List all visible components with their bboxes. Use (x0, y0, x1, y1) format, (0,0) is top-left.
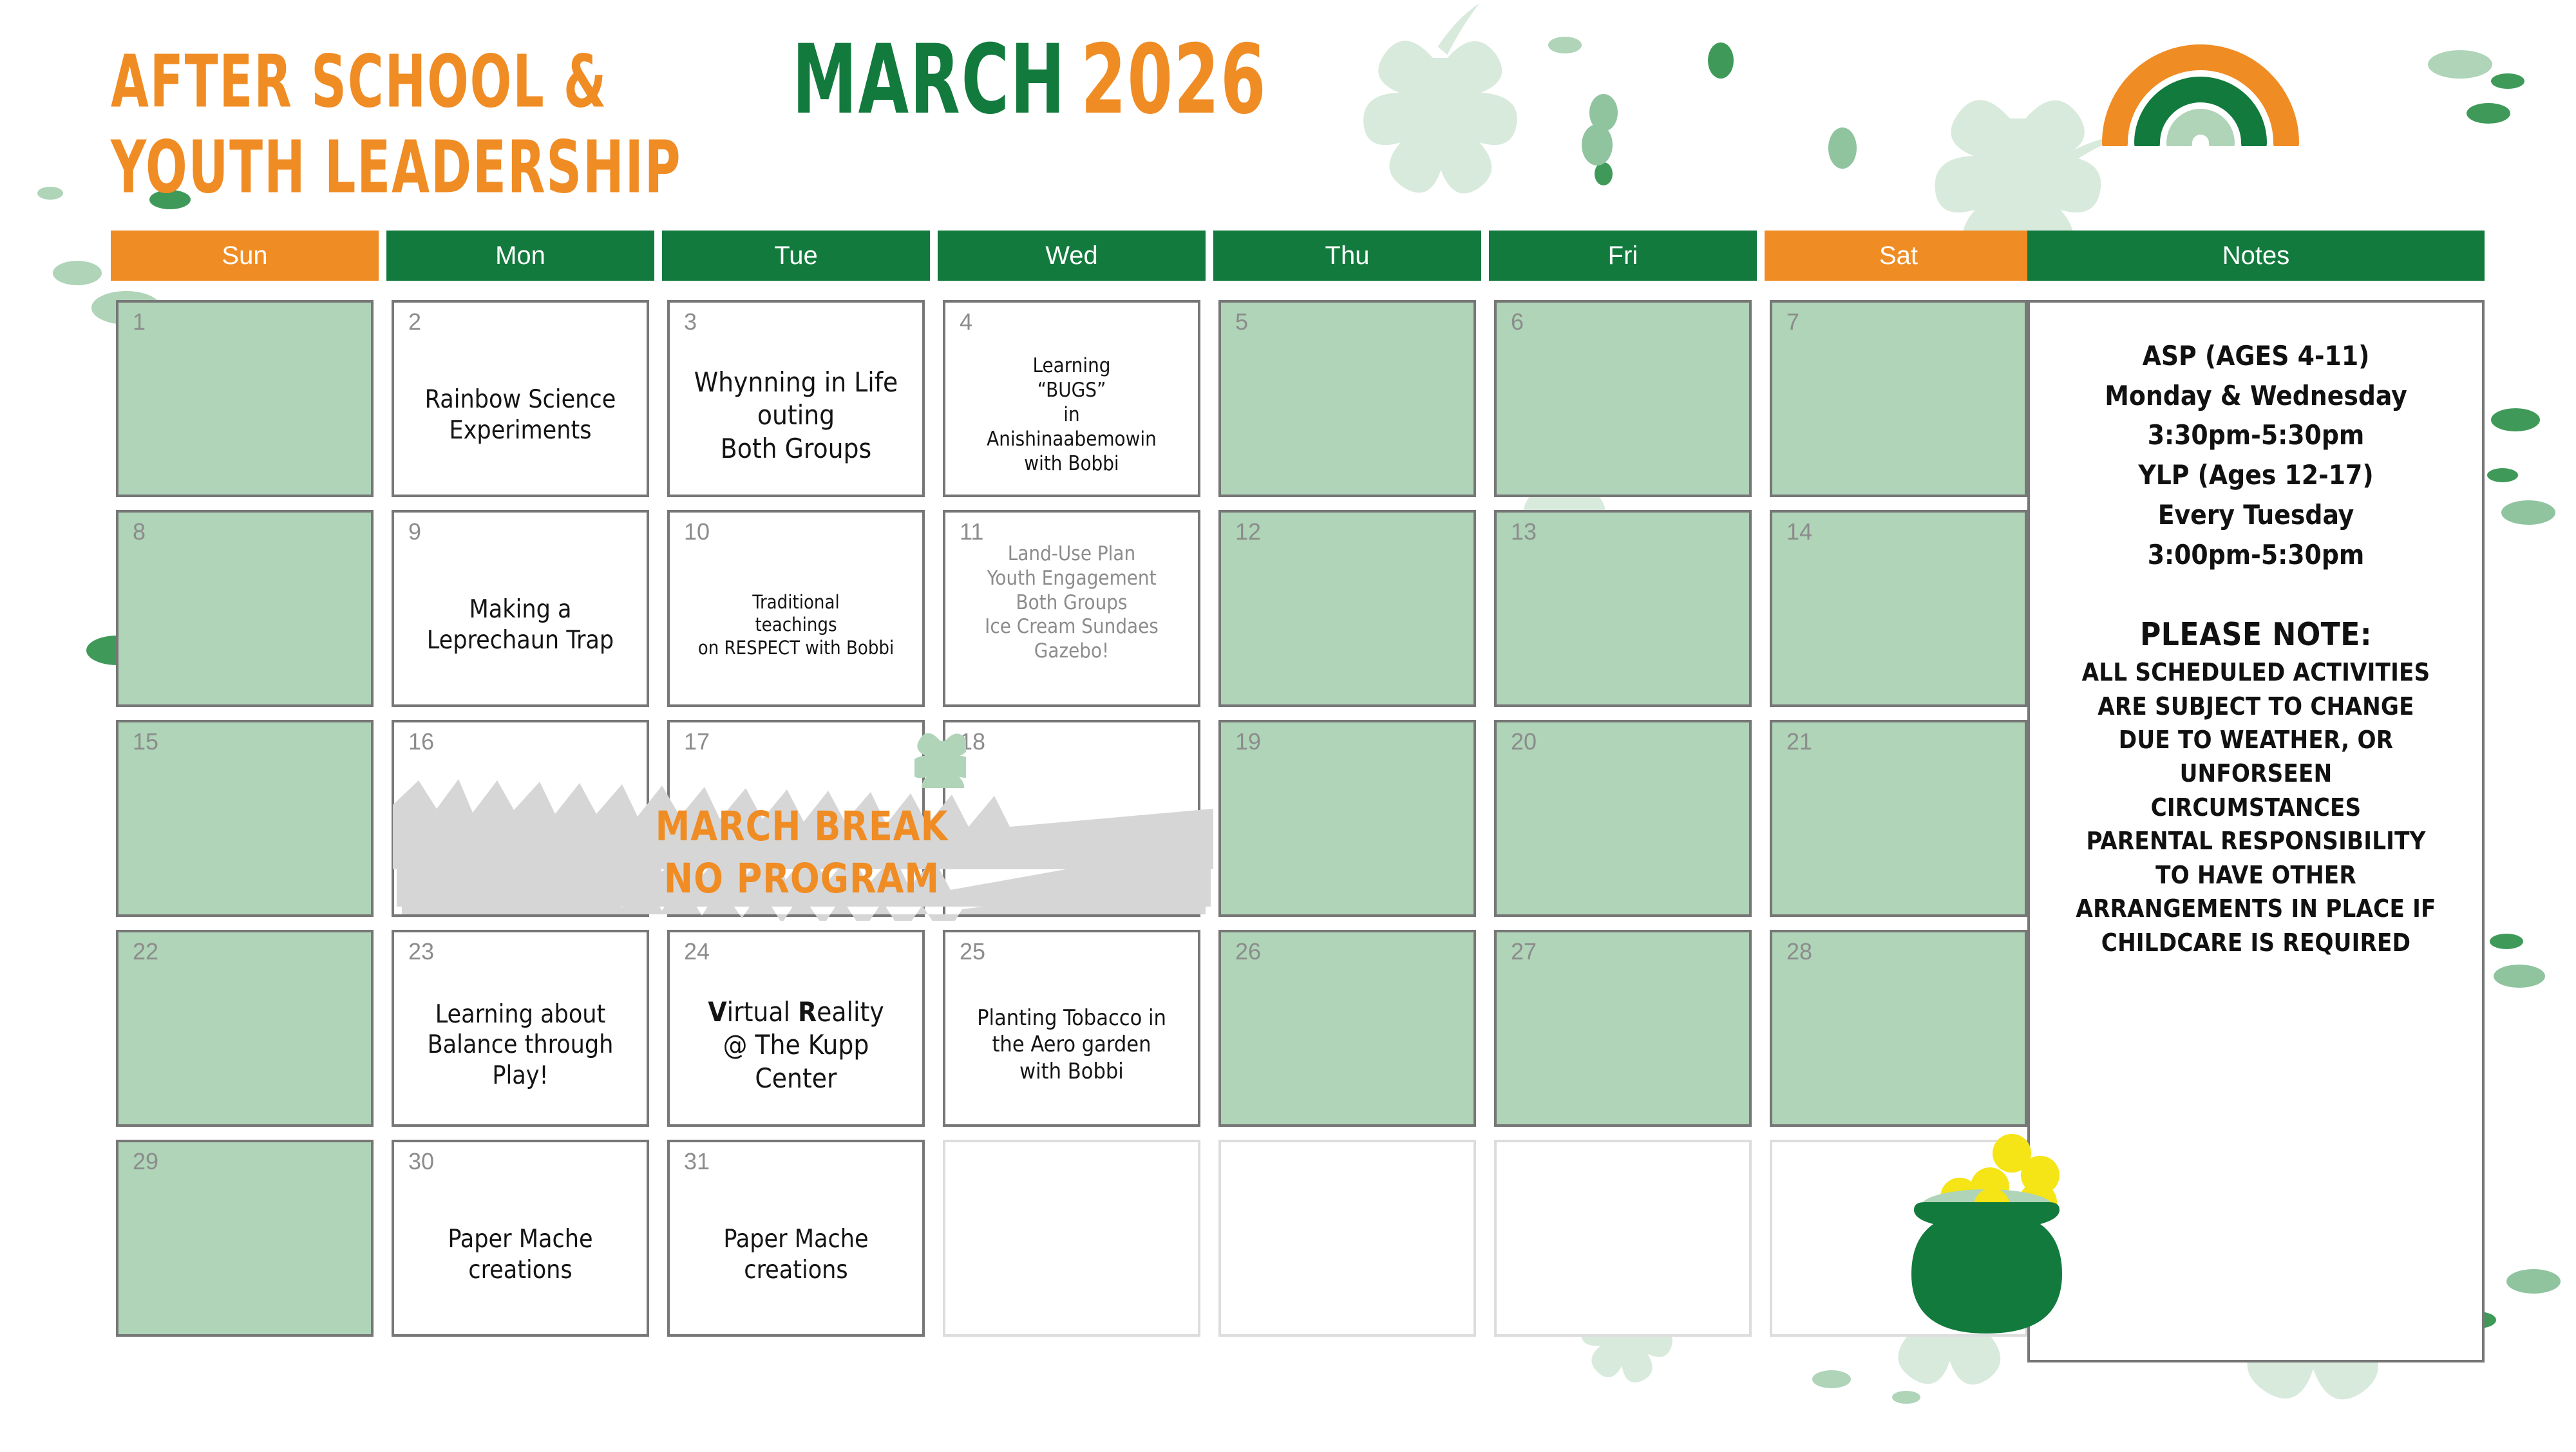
day-cell-empty-3 (1494, 1140, 1752, 1337)
day-cell-empty-1 (943, 1140, 1200, 1337)
day-cell-20[interactable]: 20 (1494, 720, 1752, 917)
event-text: Paper Mache creations (676, 1182, 916, 1328)
clover-icon (914, 726, 966, 788)
day-number: 4 (960, 310, 972, 334)
day-number: 16 (408, 730, 434, 753)
weekday-header-mon: Mon (386, 231, 654, 281)
event-line-2: @ The Kupp (723, 1028, 869, 1061)
day-cell-4[interactable]: 4 Learning “BUGS” in Anishinaabemowin wi… (943, 300, 1200, 497)
weekday-header-tue: Tue (662, 231, 930, 281)
day-cell-5[interactable]: 5 (1218, 300, 1476, 497)
day-number: 2 (408, 310, 421, 334)
event-text: Planting Tobacco in the Aero garden with… (948, 972, 1195, 1118)
day-cell-24[interactable]: 24 Virtual Reality @ The Kupp Center (667, 930, 925, 1127)
vr-initial-r: R (798, 996, 817, 1028)
day-number: 6 (1511, 310, 1524, 334)
day-number: 30 (408, 1150, 434, 1173)
day-number: 17 (684, 730, 710, 753)
day-number: 23 (408, 940, 434, 963)
day-number: 9 (408, 520, 421, 543)
weekday-label: Thu (1325, 241, 1370, 270)
day-cell-1[interactable]: 1 (116, 300, 374, 497)
event-text: Learning “BUGS” in Anishinaabemowin with… (952, 343, 1191, 488)
day-cell-23[interactable]: 23 Learning about Balance through Play! (392, 930, 649, 1127)
day-number: 25 (960, 940, 985, 963)
day-cell-12[interactable]: 12 (1218, 510, 1476, 707)
day-number: 26 (1235, 940, 1261, 963)
weekday-header-notes: Notes (2027, 231, 2485, 281)
day-number: 8 (133, 520, 146, 543)
day-number: 13 (1511, 520, 1537, 543)
notes-panel: ASP (AGES 4-11) Monday & Wednesday 3:30p… (2027, 300, 2485, 1362)
day-cell-14[interactable]: 14 (1770, 510, 2027, 707)
day-number: 11 (960, 520, 983, 543)
march-break-line1: MARCH BREAK (386, 801, 1217, 853)
day-cell-10[interactable]: 10 Traditional teachings on RESPECT with… (667, 510, 925, 707)
vr-initial-v: V (708, 996, 726, 1028)
day-number: 20 (1511, 730, 1537, 753)
march-break-notice: MARCH BREAK NO PROGRAM (386, 801, 1217, 905)
day-cell-3[interactable]: 3 Whynning in Life outing Both Groups (667, 300, 925, 497)
day-number: 12 (1235, 520, 1261, 543)
day-cell-11[interactable]: 11 Land-Use Plan Youth Engagement Both G… (943, 510, 1200, 707)
weekday-header-sat: Sat (1765, 231, 2032, 281)
please-note-body: ALL SCHEDULED ACTIVITIES ARE SUBJECT TO … (2047, 655, 2465, 959)
day-cell-25[interactable]: 25 Planting Tobacco in the Aero garden w… (943, 930, 1200, 1127)
weekday-header-fri: Fri (1489, 231, 1757, 281)
day-number: 7 (1786, 310, 1799, 334)
please-note-heading: PLEASE NOTE: (2047, 614, 2465, 655)
day-number: 24 (684, 940, 710, 963)
day-number: 15 (133, 730, 158, 753)
day-number: 22 (133, 940, 158, 963)
day-cell-13[interactable]: 13 (1494, 510, 1752, 707)
day-number: 29 (133, 1150, 158, 1173)
calendar-grid: Sun Mon Tue Wed Thu Fri Sat Notes 1 2 Ra… (0, 0, 2576, 1449)
day-cell-6[interactable]: 6 (1494, 300, 1752, 497)
weekday-label: Sat (1879, 241, 1918, 270)
pot-of-gold-icon (1887, 1130, 2087, 1343)
event-text: Whynning in Life outing Both Groups (676, 343, 916, 488)
event-text: Virtual Reality @ The Kupp Center (676, 972, 916, 1118)
event-text: Learning about Balance through Play! (401, 972, 640, 1118)
day-number: 21 (1786, 730, 1812, 753)
vr-word-reality: eality (817, 996, 884, 1028)
event-text: Paper Mache creations (401, 1182, 640, 1328)
weekday-label: Tue (774, 241, 817, 270)
day-cell-15[interactable]: 15 (116, 720, 374, 917)
event-text: Rainbow Science Experiments (401, 343, 640, 488)
day-number: 1 (133, 310, 146, 334)
day-cell-2[interactable]: 2 Rainbow Science Experiments (392, 300, 649, 497)
day-cell-26[interactable]: 26 (1218, 930, 1476, 1127)
weekday-label: Mon (495, 241, 545, 270)
day-number: 31 (684, 1150, 710, 1173)
day-number: 10 (684, 520, 710, 543)
event-text: Land-Use Plan Youth Engagement Both Grou… (952, 542, 1191, 698)
day-cell-28[interactable]: 28 (1770, 930, 2027, 1127)
day-number: 3 (684, 310, 697, 334)
event-line-3: Center (755, 1062, 837, 1095)
day-cell-29[interactable]: 29 (116, 1140, 374, 1337)
notes-schedule-text: ASP (AGES 4-11) Monday & Wednesday 3:30p… (2047, 336, 2465, 574)
march-break-line2: NO PROGRAM (386, 853, 1217, 905)
day-number: 28 (1786, 940, 1812, 963)
weekday-header-thu: Thu (1213, 231, 1481, 281)
day-cell-empty-2 (1218, 1140, 1476, 1337)
weekday-label: Notes (2222, 241, 2290, 270)
day-cell-19[interactable]: 19 (1218, 720, 1476, 917)
weekday-label: Wed (1045, 241, 1098, 270)
notes-spacer (2047, 574, 2465, 614)
weekday-header-wed: Wed (938, 231, 1206, 281)
day-number: 19 (1235, 730, 1261, 753)
day-cell-31[interactable]: 31 Paper Mache creations (667, 1140, 925, 1337)
day-cell-9[interactable]: 9 Making a Leprechaun Trap (392, 510, 649, 707)
day-cell-7[interactable]: 7 (1770, 300, 2027, 497)
day-cell-8[interactable]: 8 (116, 510, 374, 707)
day-number: 14 (1786, 520, 1812, 543)
event-text: Traditional teachings on RESPECT with Bo… (676, 552, 916, 698)
weekday-label: Fri (1608, 241, 1638, 270)
day-number: 5 (1235, 310, 1248, 334)
weekday-header-sun: Sun (111, 231, 379, 281)
vr-word-virtual: irtual (727, 996, 798, 1028)
day-number: 27 (1511, 940, 1537, 963)
notes-content: ASP (AGES 4-11) Monday & Wednesday 3:30p… (2047, 336, 2465, 959)
day-cell-21[interactable]: 21 (1770, 720, 2027, 917)
weekday-label: Sun (222, 241, 267, 270)
day-cell-22[interactable]: 22 (116, 930, 374, 1127)
day-cell-30[interactable]: 30 Paper Mache creations (392, 1140, 649, 1337)
event-line-1: Virtual Reality (708, 995, 884, 1028)
day-cell-27[interactable]: 27 (1494, 930, 1752, 1127)
event-text: Making a Leprechaun Trap (401, 552, 640, 698)
